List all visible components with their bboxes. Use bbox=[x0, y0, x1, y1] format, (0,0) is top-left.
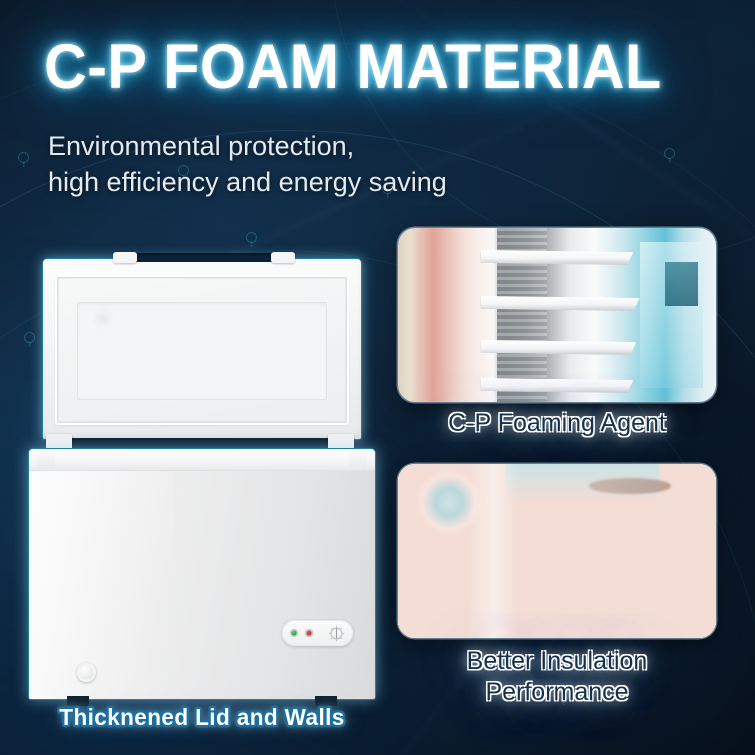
control-panel[interactable] bbox=[282, 620, 353, 646]
foaming-agent-caption: C-P Foaming Agent bbox=[398, 408, 716, 439]
lid-hinge-tab bbox=[113, 252, 137, 263]
foam-vertical-sheen bbox=[468, 464, 519, 638]
tech-circle-glyph-icon bbox=[664, 148, 675, 159]
thermostat-dial-icon[interactable] bbox=[328, 625, 345, 642]
cabinet-sheen bbox=[29, 471, 174, 699]
chest-freezer-illustration: Thicknened Lid and Walls bbox=[26, 252, 378, 712]
closed-cell-foam-micrograph bbox=[398, 464, 716, 638]
lid-handle bbox=[131, 253, 277, 262]
lid-hinge-tab bbox=[271, 252, 295, 263]
insulation-caption: Better Insulation Performance bbox=[398, 646, 716, 707]
lid-bevel-frame bbox=[55, 275, 349, 425]
lid-lock-knob[interactable] bbox=[77, 663, 96, 682]
power-led-icon bbox=[290, 629, 298, 637]
thickened-lid-badge: Thicknened Lid and Walls bbox=[33, 704, 371, 731]
product-feature-poster: C-P FOAM MATERIAL Environmental protecti… bbox=[0, 0, 755, 755]
open-freezer-lid bbox=[42, 258, 362, 440]
foam-cyan-block bbox=[640, 242, 704, 388]
foam-shadow-cavity bbox=[589, 478, 672, 494]
tech-circle-glyph-icon bbox=[18, 152, 29, 163]
alarm-led-icon bbox=[305, 629, 313, 637]
c-p-foaming-agent-card bbox=[398, 228, 716, 402]
page-subtitle: Environmental protection, high efficienc… bbox=[48, 128, 447, 200]
page-title: C-P FOAM MATERIAL bbox=[44, 36, 662, 99]
cabinet-corner-pad bbox=[37, 453, 55, 467]
foam-layer-blade bbox=[481, 250, 634, 265]
cabinet-top-rim bbox=[29, 449, 375, 471]
lid-dimple-panel bbox=[77, 302, 327, 400]
freezer-cabinet bbox=[28, 448, 376, 700]
foam-layer-blade bbox=[481, 378, 634, 393]
foam-cross-section-micrograph bbox=[398, 228, 716, 402]
better-insulation-card bbox=[398, 464, 716, 638]
foam-layer-blade bbox=[481, 340, 637, 355]
cabinet-corner-pad bbox=[349, 453, 367, 467]
foam-layer-blade bbox=[481, 296, 640, 311]
